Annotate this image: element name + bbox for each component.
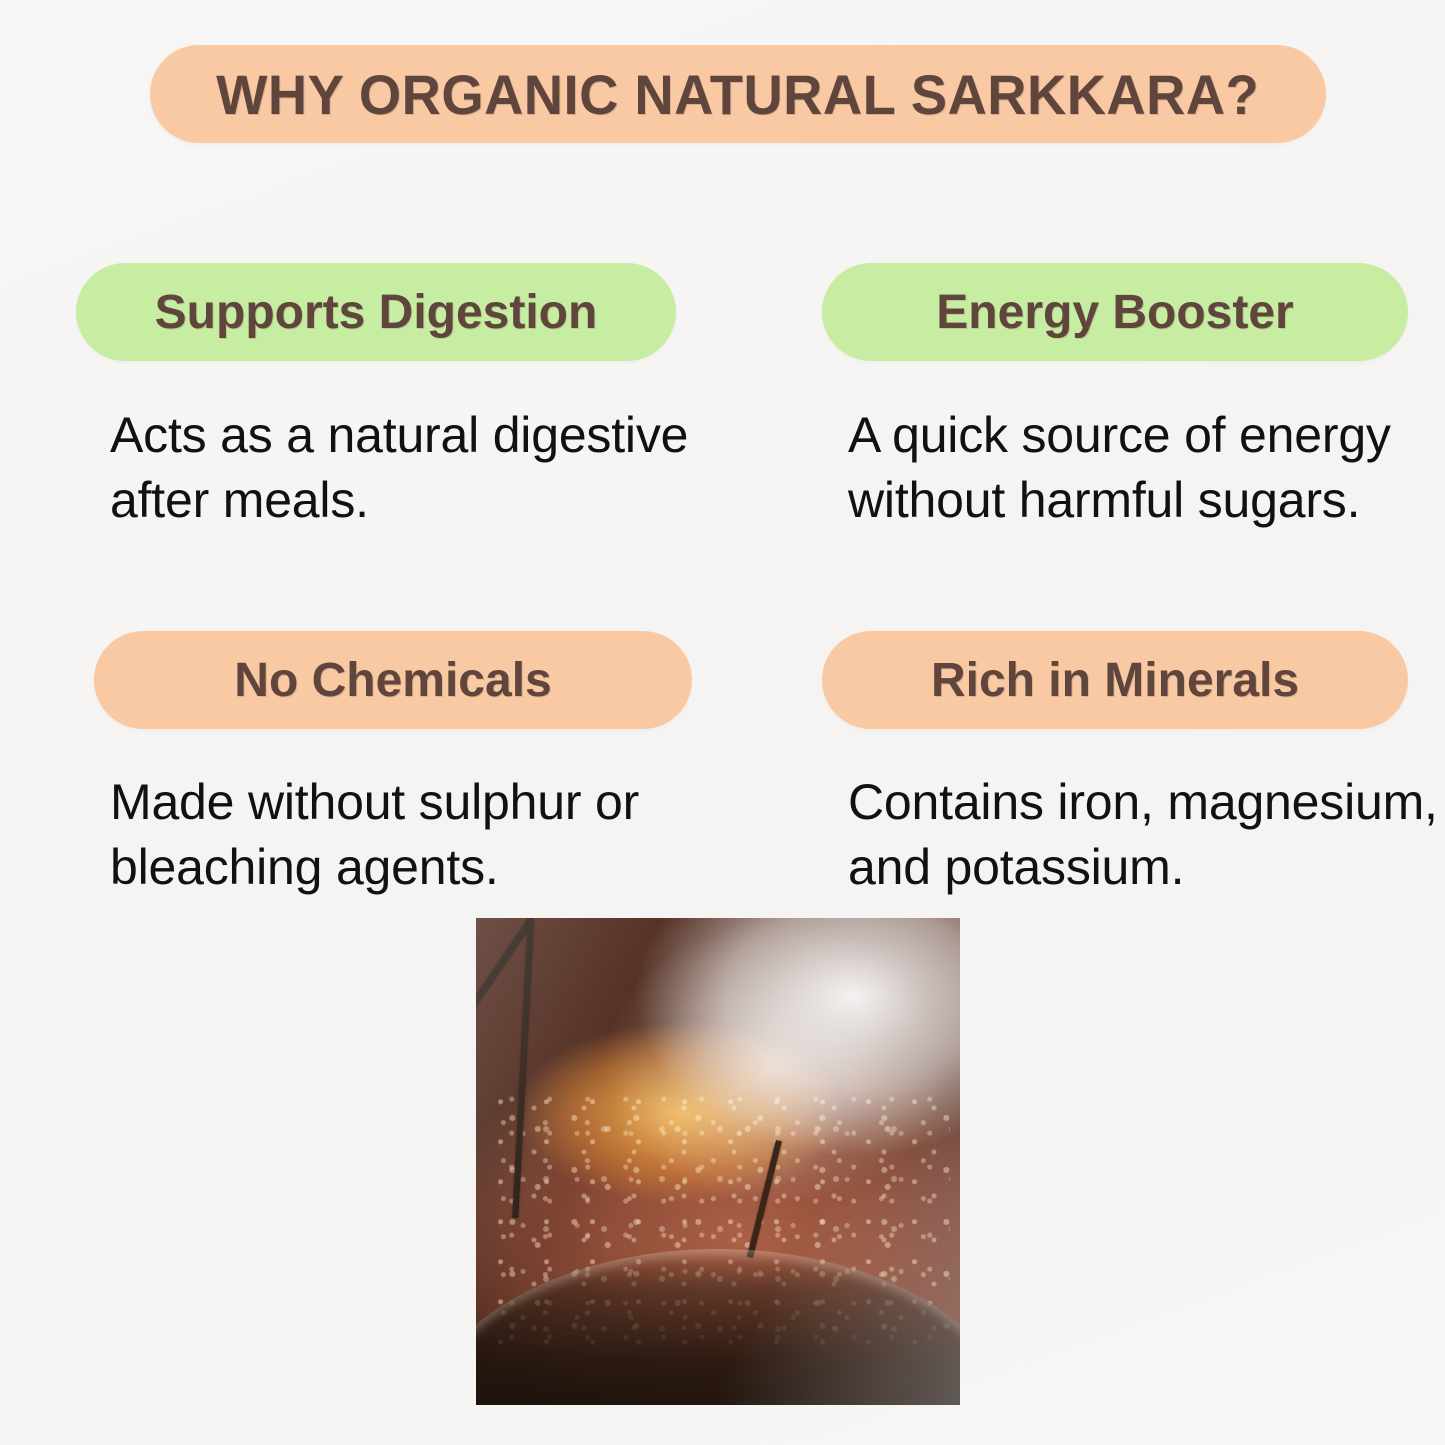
benefit-description-rich-in-minerals: Contains iron, magnesium, and potassium.	[848, 770, 1445, 900]
benefit-pill-no-chemicals: No Chemicals	[94, 631, 692, 729]
benefit-description-supports-digestion: Acts as a natural digestive after meals.	[110, 403, 690, 533]
page-title: WHY ORGANIC NATURAL SARKKARA?	[216, 62, 1259, 127]
benefit-pill-supports-digestion: Supports Digestion	[76, 263, 676, 361]
benefit-label-no-chemicals: No Chemicals	[234, 653, 551, 708]
infographic-canvas: WHY ORGANIC NATURAL SARKKARA? Supports D…	[0, 0, 1445, 1445]
benefit-pill-rich-in-minerals: Rich in Minerals	[822, 631, 1408, 729]
boiling-jaggery-pan-photo	[476, 918, 960, 1405]
benefit-description-energy-booster: A quick source of energy without harmful…	[848, 403, 1408, 533]
page-title-pill: WHY ORGANIC NATURAL SARKKARA?	[150, 45, 1326, 143]
benefit-label-energy-booster: Energy Booster	[936, 285, 1293, 340]
benefit-label-rich-in-minerals: Rich in Minerals	[931, 653, 1299, 708]
benefit-description-no-chemicals: Made without sulphur or bleaching agents…	[110, 770, 700, 900]
benefit-label-supports-digestion: Supports Digestion	[155, 285, 598, 340]
benefit-pill-energy-booster: Energy Booster	[822, 263, 1408, 361]
